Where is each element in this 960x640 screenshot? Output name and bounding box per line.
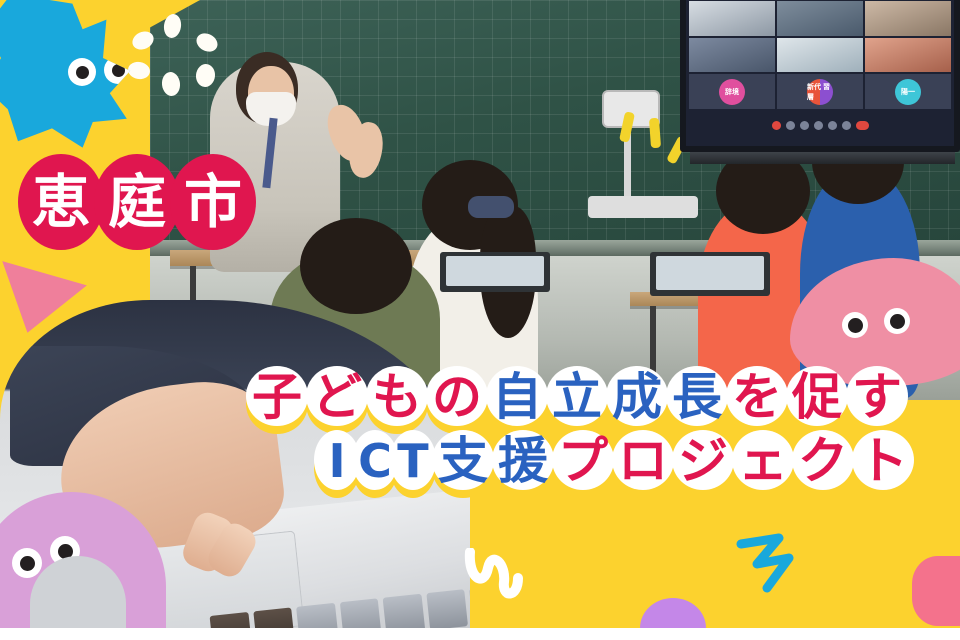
microphone-icon[interactable] — [772, 121, 781, 130]
participant-avatar: 辞境 — [719, 79, 745, 105]
pink-corner-shape — [912, 556, 960, 626]
video-call-toolbar[interactable] — [686, 121, 954, 130]
share-screen-icon[interactable] — [800, 121, 809, 130]
headline-char: 子 — [244, 362, 310, 432]
headline-char: T — [392, 426, 434, 496]
badge-char: 恵 — [32, 173, 90, 231]
headline-char: 支 — [430, 426, 496, 496]
headline-char: す — [844, 362, 910, 432]
headline-char: プ — [550, 426, 616, 496]
headline-char: 長 — [664, 362, 730, 432]
headline-line-2: I C T 支 援 プ ロ ジ ェ ク ト — [238, 426, 950, 496]
headline-char: ど — [304, 362, 370, 432]
headline-char: C — [354, 426, 396, 496]
headline-char: を — [724, 362, 790, 432]
headline-char: ジ — [670, 426, 736, 496]
bottom-white-strip — [0, 628, 960, 640]
laptop-screen — [656, 256, 764, 290]
video-tile[interactable] — [689, 38, 775, 73]
document-camera-base — [588, 196, 698, 218]
headline-char: 成 — [604, 362, 670, 432]
headline-char: ク — [790, 426, 856, 496]
participant-avatar: 新代 習層 — [807, 79, 833, 105]
student-head — [300, 218, 412, 314]
display-stand — [690, 152, 955, 164]
headline-char: ト — [850, 426, 916, 496]
video-tile[interactable] — [777, 1, 863, 36]
video-tile[interactable] — [689, 1, 775, 36]
headline-char: 援 — [490, 426, 556, 496]
eniwa-city-badge: 恵 庭 市 — [18, 152, 246, 252]
character-eye — [12, 548, 42, 578]
more-options-icon[interactable] — [842, 121, 851, 130]
white-sparkle-dots — [118, 10, 228, 100]
headline-char: ェ — [730, 426, 796, 496]
character-eye — [884, 308, 910, 334]
headline: 子 ど も の 自 立 成 長 を 促 す I C T 支 援 プ ロ ジ ェ … — [238, 362, 950, 496]
badge-circle: 市 — [170, 154, 256, 250]
headline-char: 立 — [544, 362, 610, 432]
blue-zigzag-icon — [735, 530, 825, 600]
yellow-dash-icon — [649, 118, 661, 149]
headline-char: も — [364, 362, 430, 432]
laptop-screen — [446, 256, 544, 286]
banner-root: JAP 辞境 新代 習層 陽一 — [0, 0, 960, 640]
badge-char: 市 — [184, 173, 242, 231]
hair-band — [468, 196, 514, 218]
badge-circle: 恵 — [18, 154, 104, 250]
headline-char: の — [424, 362, 490, 432]
character-eye — [68, 58, 96, 86]
headline-char: 自 — [484, 362, 550, 432]
headline-line-1: 子 ど も の 自 立 成 長 を 促 す — [238, 362, 950, 432]
end-call-icon[interactable] — [856, 121, 869, 130]
video-tile[interactable] — [865, 38, 951, 73]
headline-char: 促 — [784, 362, 850, 432]
headline-char: ロ — [610, 426, 676, 496]
video-tile-avatar[interactable]: 陽一 — [865, 74, 951, 109]
participants-icon[interactable] — [814, 121, 823, 130]
badge-circle: 庭 — [94, 154, 180, 250]
video-tile[interactable] — [777, 38, 863, 73]
character-eye — [842, 312, 868, 338]
chat-icon[interactable] — [828, 121, 837, 130]
camera-icon[interactable] — [786, 121, 795, 130]
video-tile[interactable] — [865, 1, 951, 36]
video-conference-display[interactable]: 辞境 新代 習層 陽一 — [680, 0, 960, 152]
badge-char: 庭 — [108, 173, 166, 231]
video-tile-grid: 辞境 新代 習層 陽一 — [689, 1, 951, 109]
video-tile-avatar[interactable]: 辞境 — [689, 74, 775, 109]
video-tile-avatar[interactable]: 新代 習層 — [777, 74, 863, 109]
participant-avatar: 陽一 — [895, 79, 921, 105]
white-wave-squiggle-icon — [462, 548, 552, 610]
